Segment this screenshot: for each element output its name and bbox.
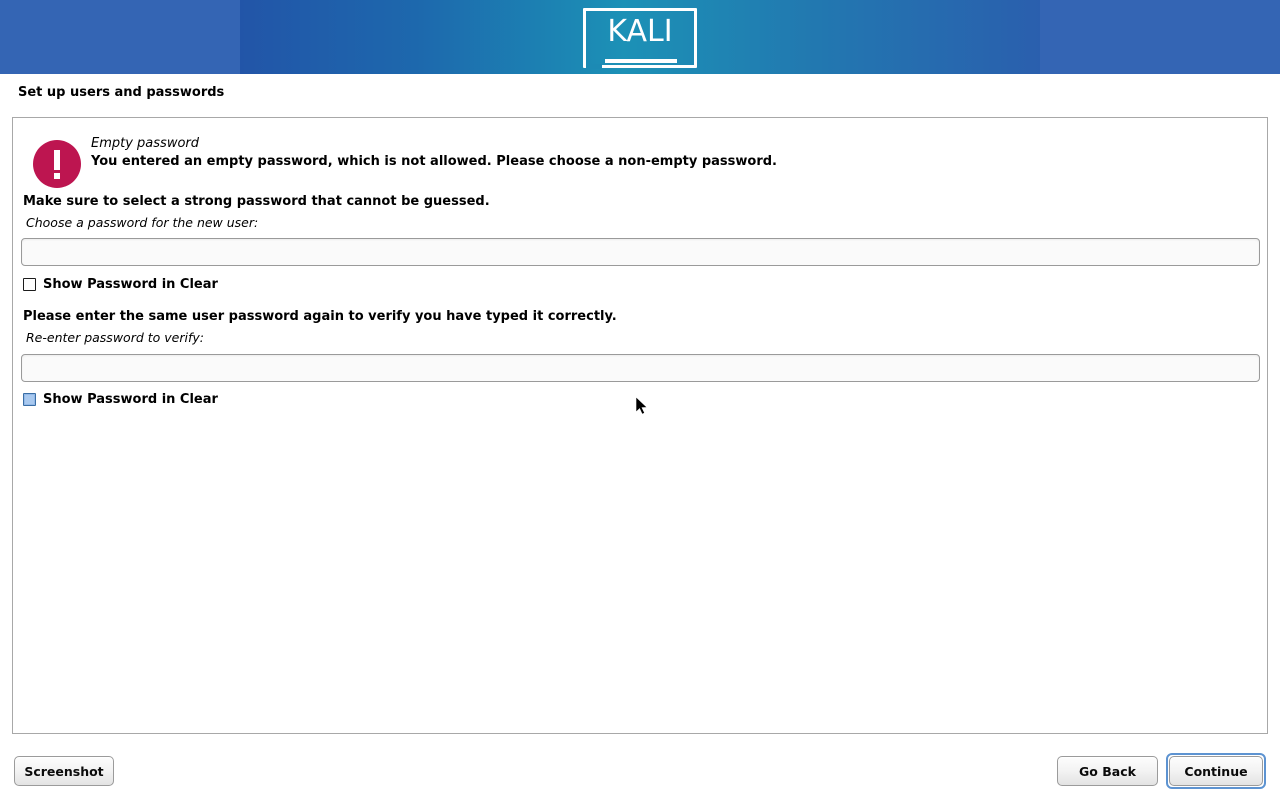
kali-logo-notch <box>586 64 602 69</box>
show-password-label-2: Show Password in Clear <box>43 392 218 407</box>
exclamation-dot <box>54 173 60 179</box>
password-verify-field-label: Re-enter password to verify: <box>26 330 204 345</box>
kali-logo-text: KALI <box>583 13 697 51</box>
password-verify-heading: Please enter the same user password agai… <box>23 309 617 324</box>
error-description: You entered an empty password, which is … <box>91 154 777 169</box>
error-title: Empty password <box>91 136 199 151</box>
screenshot-button[interactable]: Screenshot <box>14 756 114 786</box>
go-back-button[interactable]: Go Back <box>1057 756 1158 786</box>
installer-banner: KALI <box>0 0 1280 74</box>
page-title: Set up users and passwords <box>18 85 224 100</box>
password-input[interactable] <box>21 238 1260 266</box>
show-password-checkbox-2[interactable] <box>23 393 36 406</box>
error-exclamation-icon <box>33 140 81 188</box>
password-field-label: Choose a password for the new user: <box>26 215 258 230</box>
exclamation-bar <box>54 150 60 170</box>
password-verify-input[interactable] <box>21 354 1260 382</box>
continue-button-focus-ring[interactable]: Continue <box>1166 753 1266 789</box>
continue-button[interactable]: Continue <box>1169 756 1263 786</box>
content-panel: Empty password You entered an empty pass… <box>12 117 1268 734</box>
kali-logo-underline <box>605 59 677 63</box>
show-password-label-1: Show Password in Clear <box>43 277 218 292</box>
password-strength-heading: Make sure to select a strong password th… <box>23 194 490 209</box>
kali-logo: KALI <box>583 8 697 68</box>
show-password-checkbox-1[interactable] <box>23 278 36 291</box>
